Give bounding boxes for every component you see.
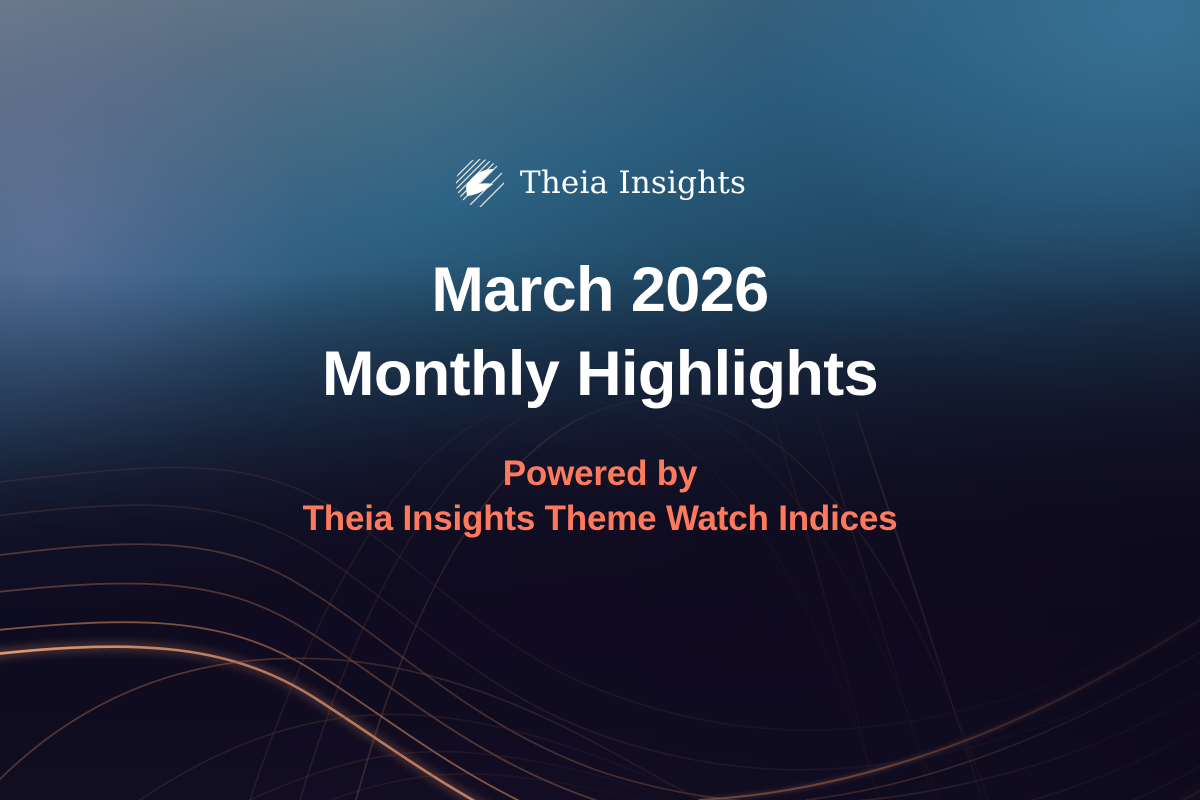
tagline-line-2: Theia Insights Theme Watch Indices (303, 496, 898, 542)
tagline-line-1: Powered by (503, 454, 697, 493)
brand-wordmark: Theia Insights (520, 168, 746, 199)
theia-insights-logo-icon (454, 157, 506, 209)
slide-tagline: Powered by Theia Insights Theme Watch In… (303, 451, 898, 542)
slide-content: Theia Insights March 2026 Monthly Highli… (0, 0, 1200, 800)
title-slide: Theia Insights March 2026 Monthly Highli… (0, 0, 1200, 800)
slide-title: March 2026 Monthly Highlights (322, 249, 878, 417)
brand-lockup: Theia Insights (454, 155, 746, 211)
